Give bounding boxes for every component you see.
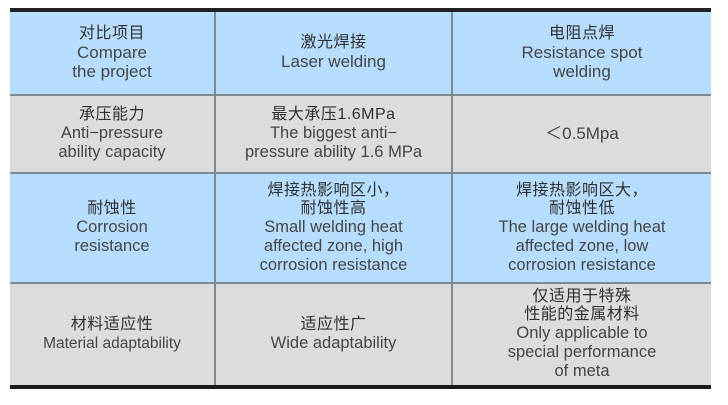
cell-material-adaptability-laser: 适应性广 Wide adaptability: [215, 283, 452, 387]
cell-anti-pressure-spot: ＜0.5Mpa: [452, 95, 711, 173]
cell-corrosion-resistance-spot-en: The large welding heat affected zone, lo…: [459, 218, 705, 274]
cell-material-adaptability-laser-en: Wide adaptability: [222, 334, 445, 353]
column-header-laser-welding-en: Laser welding: [222, 52, 445, 71]
column-header-compare-project: 对比项目 Compare the project: [10, 10, 215, 95]
cell-corrosion-resistance-laser: 焊接热影响区小， 耐蚀性高 Small welding heat affecte…: [215, 173, 452, 283]
cell-anti-pressure-laser-en: The biggest anti− pressure ability 1.6 M…: [222, 124, 445, 162]
table-row-material-adaptability: 材料适应性 Material adaptability 适应性广 Wide ad…: [10, 283, 711, 387]
cell-corrosion-resistance-laser-cn: 焊接热影响区小， 耐蚀性高: [222, 182, 445, 218]
cell-anti-pressure-laser: 最大承压1.6MPa The biggest anti− pressure ab…: [215, 95, 452, 173]
row-label-anti-pressure-cn: 承压能力: [16, 106, 208, 124]
row-label-anti-pressure-en: Anti−pressure ability capacity: [16, 124, 208, 162]
row-label-material-adaptability: 材料适应性 Material adaptability: [10, 283, 215, 387]
column-header-resistance-spot-welding-cn: 电阻点焊: [459, 25, 705, 43]
document-page: 对比项目 Compare the project 激光焊接 Laser weld…: [0, 0, 728, 405]
column-header-resistance-spot-welding: 电阻点焊 Resistance spot welding: [452, 10, 711, 95]
column-header-resistance-spot-welding-en: Resistance spot welding: [459, 43, 705, 82]
column-header-compare-project-en: Compare the project: [16, 43, 208, 82]
cell-corrosion-resistance-spot: 焊接热影响区大， 耐蚀性低 The large welding heat aff…: [452, 173, 711, 283]
cell-material-adaptability-spot: 仅适用于特殊 性能的金属材料 Only applicable to specia…: [452, 283, 711, 387]
welding-comparison-table: 对比项目 Compare the project 激光焊接 Laser weld…: [10, 8, 711, 389]
cell-corrosion-resistance-laser-en: Small welding heat affected zone, high c…: [222, 218, 445, 274]
column-header-compare-project-cn: 对比项目: [16, 25, 208, 43]
table-row-corrosion-resistance: 耐蚀性 Corrosion resistance 焊接热影响区小， 耐蚀性高 S…: [10, 173, 711, 283]
cell-material-adaptability-spot-en: Only applicable to special performance o…: [459, 324, 705, 380]
table-row-anti-pressure: 承压能力 Anti−pressure ability capacity 最大承压…: [10, 95, 711, 173]
row-label-corrosion-resistance: 耐蚀性 Corrosion resistance: [10, 173, 215, 283]
row-label-material-adaptability-cn: 材料适应性: [16, 316, 208, 334]
row-label-anti-pressure: 承压能力 Anti−pressure ability capacity: [10, 95, 215, 173]
row-label-corrosion-resistance-cn: 耐蚀性: [16, 200, 208, 218]
cell-corrosion-resistance-spot-cn: 焊接热影响区大， 耐蚀性低: [459, 182, 705, 218]
row-label-material-adaptability-en: Material adaptability: [16, 335, 208, 353]
column-header-laser-welding: 激光焊接 Laser welding: [215, 10, 452, 95]
cell-anti-pressure-spot-value: ＜0.5Mpa: [459, 124, 705, 143]
row-label-corrosion-resistance-en: Corrosion resistance: [16, 218, 208, 256]
cell-material-adaptability-spot-cn: 仅适用于特殊 性能的金属材料: [459, 288, 705, 324]
column-header-laser-welding-cn: 激光焊接: [222, 34, 445, 52]
cell-material-adaptability-laser-cn: 适应性广: [222, 316, 445, 334]
table-header-row: 对比项目 Compare the project 激光焊接 Laser weld…: [10, 10, 711, 95]
cell-anti-pressure-laser-cn: 最大承压1.6MPa: [222, 106, 445, 124]
